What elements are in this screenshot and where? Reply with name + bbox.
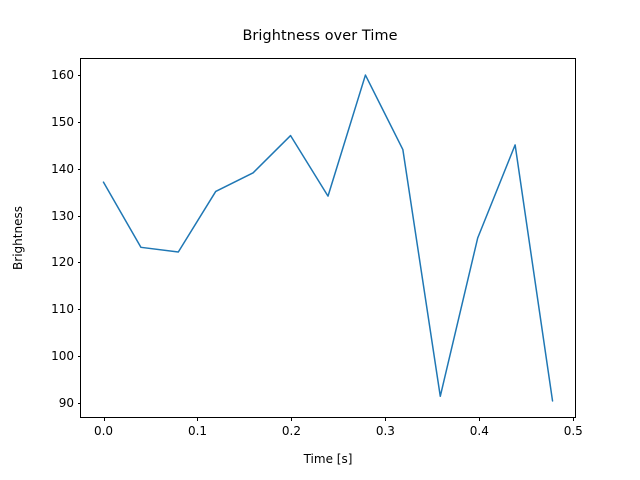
- x-axis-tick: [104, 417, 105, 421]
- x-axis-label: Time [s]: [80, 452, 576, 466]
- x-axis-tick: [385, 417, 386, 421]
- data-line-series: [81, 59, 575, 417]
- x-axis-tick-label: 0.5: [564, 424, 583, 438]
- x-axis-tick-label: 0.3: [376, 424, 395, 438]
- y-axis-tick-label: 130: [51, 209, 74, 223]
- y-axis-tick-label: 150: [51, 115, 74, 129]
- y-axis-tick-label: 90: [59, 396, 74, 410]
- y-axis-tick: [78, 75, 82, 76]
- y-axis-tick: [78, 262, 82, 263]
- brightness-line: [103, 75, 552, 401]
- y-axis-tick: [78, 403, 82, 404]
- plot-area: 901001101201301401501600.00.10.20.30.40.…: [80, 58, 576, 418]
- y-axis-tick-label: 120: [51, 255, 74, 269]
- y-axis-tick-label: 110: [51, 302, 74, 316]
- y-axis-tick: [78, 356, 82, 357]
- y-axis-label-text: Brightness: [11, 206, 25, 270]
- y-axis-label: Brightness: [10, 58, 26, 418]
- x-axis-tick: [573, 417, 574, 421]
- y-axis-tick: [78, 216, 82, 217]
- x-axis-tick-label: 0.4: [470, 424, 489, 438]
- x-axis-tick: [479, 417, 480, 421]
- x-axis-tick: [197, 417, 198, 421]
- y-axis-tick: [78, 309, 82, 310]
- x-axis-tick-label: 0.2: [282, 424, 301, 438]
- figure-canvas: Brightness over Time Brightness Time [s]…: [0, 0, 640, 480]
- x-axis-tick-label: 0.0: [94, 424, 113, 438]
- x-axis-tick-label: 0.1: [188, 424, 207, 438]
- y-axis-tick-label: 100: [51, 349, 74, 363]
- y-axis-tick-label: 160: [51, 68, 74, 82]
- y-axis-tick: [78, 122, 82, 123]
- y-axis-tick: [78, 169, 82, 170]
- x-axis-tick: [291, 417, 292, 421]
- y-axis-tick-label: 140: [51, 162, 74, 176]
- chart-title: Brightness over Time: [0, 28, 640, 44]
